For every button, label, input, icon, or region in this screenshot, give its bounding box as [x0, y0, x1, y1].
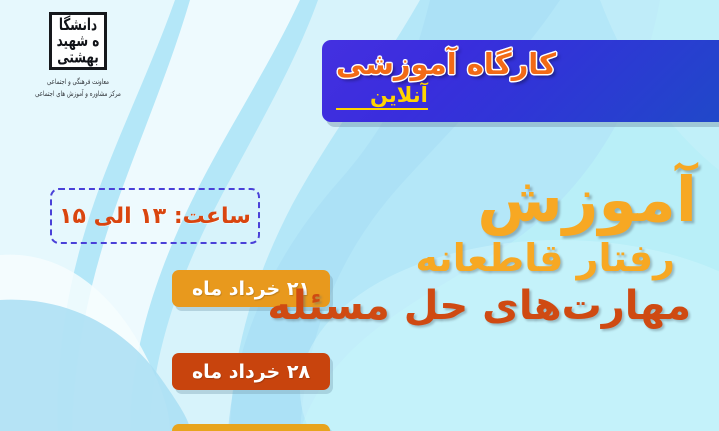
topic-heading-line-3: مهارت‌های حل مسئله [277, 285, 691, 327]
workshop-banner: کارگاه آموزشی آنلاین [322, 40, 719, 122]
university-logo-mark-text: دانشگاه شهید بهشتی [56, 12, 100, 70]
date-badge-third [172, 424, 330, 431]
workshop-banner-title: کارگاه آموزشی [336, 48, 556, 81]
university-logo-subtitle-line-2: مرکز مشاوره و آموزش های اجتماعی [18, 89, 138, 101]
university-logo-mark: دانشگاه شهید بهشتی [49, 12, 107, 70]
date-badge-second-label: ۲۸ خرداد ماه [192, 361, 310, 383]
university-logo: دانشگاه شهید بهشتی معاونت فرهنگی و اجتما… [18, 8, 138, 95]
workshop-poster: دانشگاه شهید بهشتی معاونت فرهنگی و اجتما… [0, 0, 719, 431]
time-badge: ساعت: ۱۳ الی ۱۵ [50, 188, 260, 244]
topic-heading-line-2: رفتار قاطعانه [277, 239, 675, 279]
topic-heading-line-1: آموزش [277, 168, 697, 231]
university-logo-subtitle-line-1: معاونت فرهنگی و اجتماعی [18, 77, 138, 89]
workshop-banner-subtitle: آنلاین [336, 83, 428, 110]
topic-heading-stack: آموزش رفتار قاطعانه مهارت‌های حل مسئله [277, 168, 697, 331]
time-badge-label: ساعت: ۱۳ الی ۱۵ [59, 204, 251, 229]
university-logo-subtitle: معاونت فرهنگی و اجتماعی مرکز مشاوره و آم… [18, 77, 138, 101]
date-badge-second: ۲۸ خرداد ماه [172, 353, 330, 390]
workshop-banner-content: کارگاه آموزشی آنلاین [322, 40, 719, 122]
